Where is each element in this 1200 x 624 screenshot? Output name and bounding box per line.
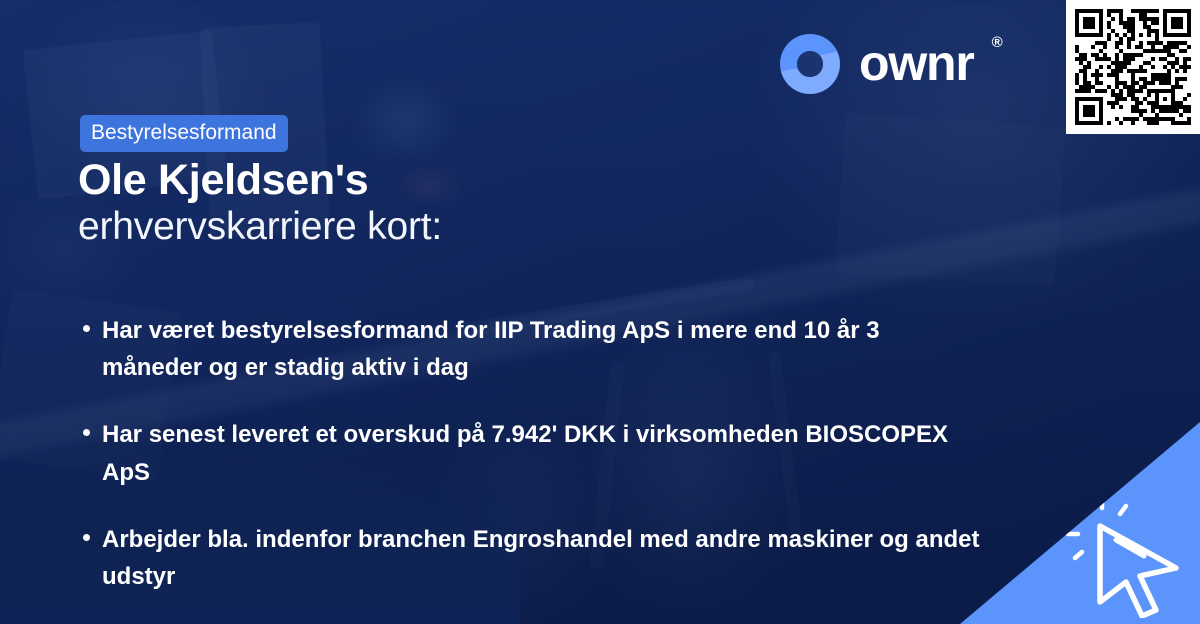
person-name: Ole Kjeldsen's (78, 157, 838, 203)
list-item: Arbejder bla. indenfor branchen Engrosha… (80, 521, 980, 595)
title-subtitle: erhvervskarriere kort: (78, 203, 838, 251)
bullet-dot-icon (83, 534, 90, 541)
list-item-text: Arbejder bla. indenfor branchen Engrosha… (102, 526, 980, 590)
ownr-wordmark: ownr (859, 38, 974, 88)
bullet-dot-icon (83, 429, 90, 436)
page-title: Ole Kjeldsen's erhvervskarriere kort: (78, 157, 838, 251)
ownr-logo[interactable]: ownr ® (778, 32, 1002, 96)
ownr-circle-swoosh-icon (778, 32, 842, 96)
qr-code[interactable] (1066, 0, 1200, 134)
qr-code-icon (1075, 9, 1191, 125)
list-item-text: Har senest leveret et overskud på 7.942'… (102, 421, 948, 485)
list-item: Har været bestyrelsesformand for IIP Tra… (80, 312, 980, 386)
career-card: ownr ® Bestyrelsesformand Ole Kjeldsen's… (0, 0, 1200, 624)
bullet-dot-icon (83, 325, 90, 332)
role-badge: Bestyrelsesformand (80, 115, 288, 152)
list-item: Har senest leveret et overskud på 7.942'… (80, 416, 980, 490)
list-item-text: Har været bestyrelsesformand for IIP Tra… (102, 317, 880, 381)
registered-trademark-symbol: ® (992, 34, 1003, 51)
career-facts-list: Har været bestyrelsesformand for IIP Tra… (80, 312, 980, 595)
